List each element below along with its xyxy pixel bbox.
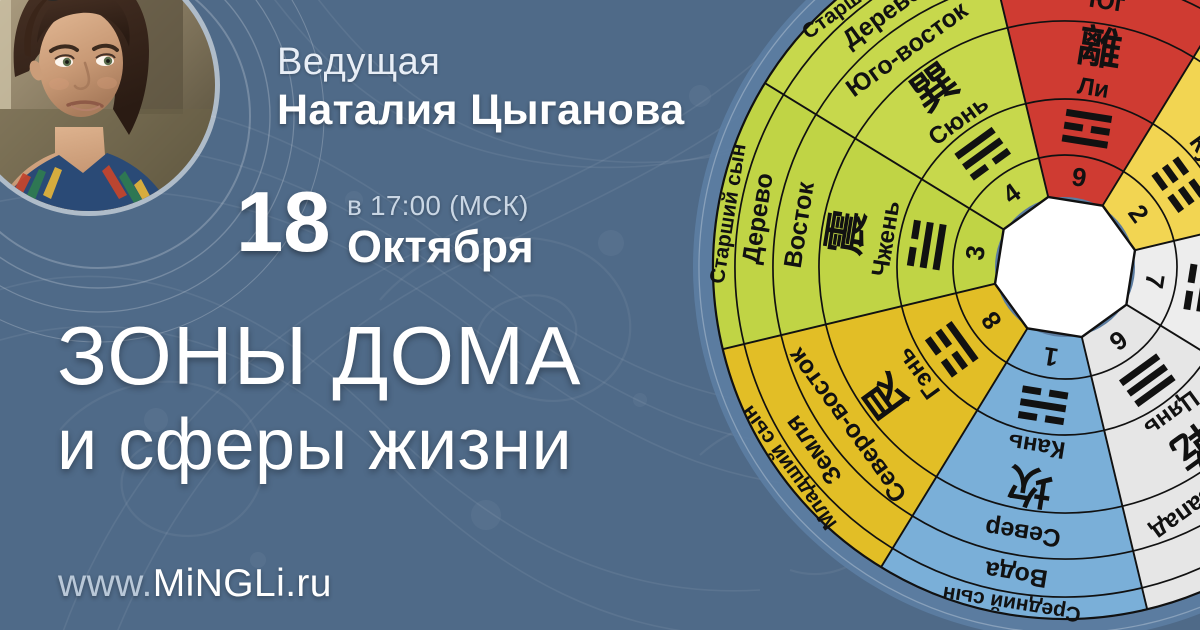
avatar	[0, 0, 220, 216]
host-role-label: Ведущая	[277, 41, 440, 84]
bagua-wheel: 9ЮгОгоньСредняя дочь離Ли2Юго-западЗемляМа…	[680, 0, 1200, 630]
site-url[interactable]: www.MiNGLi.ru	[58, 562, 332, 606]
event-time: в 17:00 (МСК)	[347, 190, 534, 222]
bagua-hanzi-li: 離	[1074, 21, 1125, 76]
event-date-block: 18 в 17:00 (МСК) Октября	[236, 186, 534, 271]
bagua-hanzi-kan: 坎	[1005, 458, 1056, 513]
event-month: Октября	[347, 223, 534, 271]
bagua-pinyin-li: Ли	[1076, 72, 1111, 104]
page-title-line2: и сферы жизни	[57, 405, 572, 485]
page-title-line1: ЗОНЫ ДОМА	[57, 312, 582, 400]
event-date-right: в 17:00 (МСК) Октября	[347, 186, 534, 271]
portrait-photo	[0, 0, 215, 211]
site-url-domain: MiNGLi.ru	[153, 562, 332, 605]
poster-canvas: Ведущая Наталия Цыганова 18 в 17:00 (МСК…	[0, 0, 1200, 630]
site-url-www: www.	[58, 562, 153, 605]
avatar-photo-clip	[0, 0, 215, 211]
host-name: Наталия Цыганова	[277, 86, 685, 135]
event-day: 18	[236, 186, 331, 260]
bagua-hanzi-zhen: 震	[819, 206, 874, 258]
